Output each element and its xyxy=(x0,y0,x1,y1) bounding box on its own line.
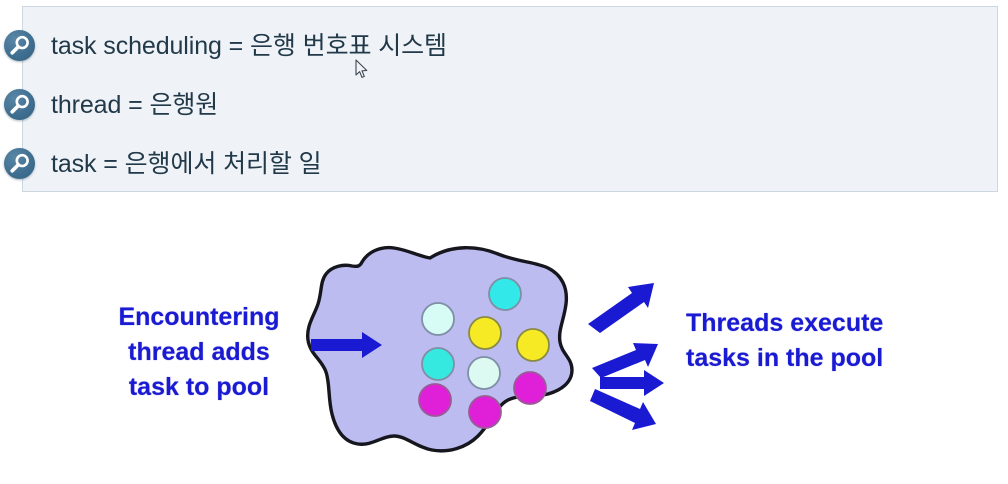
task-dot-magenta-bottom xyxy=(469,396,501,428)
task-dot-cyan-left xyxy=(422,348,454,380)
task-dot-magenta-left xyxy=(419,384,451,416)
caption-left-line2: thread adds xyxy=(90,335,308,370)
caption-right-line2: tasks in the pool xyxy=(686,341,956,376)
caption-right: Threads execute tasks in the pool xyxy=(686,306,956,376)
task-dot-palecyan-center xyxy=(468,357,500,389)
task-dot-cyan-top xyxy=(489,278,521,310)
definition-text: thread = 은행원 xyxy=(51,85,218,125)
task-dot-magenta-right xyxy=(514,372,546,404)
task-dot-palecyan-left xyxy=(422,303,454,335)
magnifier-icon xyxy=(4,148,35,179)
arrow-execute-up-1 xyxy=(588,283,654,333)
definition-text: task = 은행에서 처리할 일 xyxy=(51,144,322,184)
task-dot-yellow-center xyxy=(469,317,501,349)
magnifier-icon xyxy=(4,89,35,120)
thread-pool-diagram: Encountering thread adds task to pool Th… xyxy=(0,196,1008,484)
definition-text: task scheduling = 은행 번호표 시스템 xyxy=(51,26,447,66)
arrow-execute-down xyxy=(590,389,656,430)
task-dot-yellow-right xyxy=(517,329,549,361)
caption-left-line3: task to pool xyxy=(90,370,308,405)
caption-left: Encountering thread adds task to pool xyxy=(90,300,308,405)
caption-left-line1: Encountering xyxy=(90,300,308,335)
caption-right-line1: Threads execute xyxy=(686,306,956,341)
magnifier-icon xyxy=(4,30,35,61)
definition-panel: task scheduling = 은행 번호표 시스템 thread = 은행… xyxy=(22,6,998,192)
